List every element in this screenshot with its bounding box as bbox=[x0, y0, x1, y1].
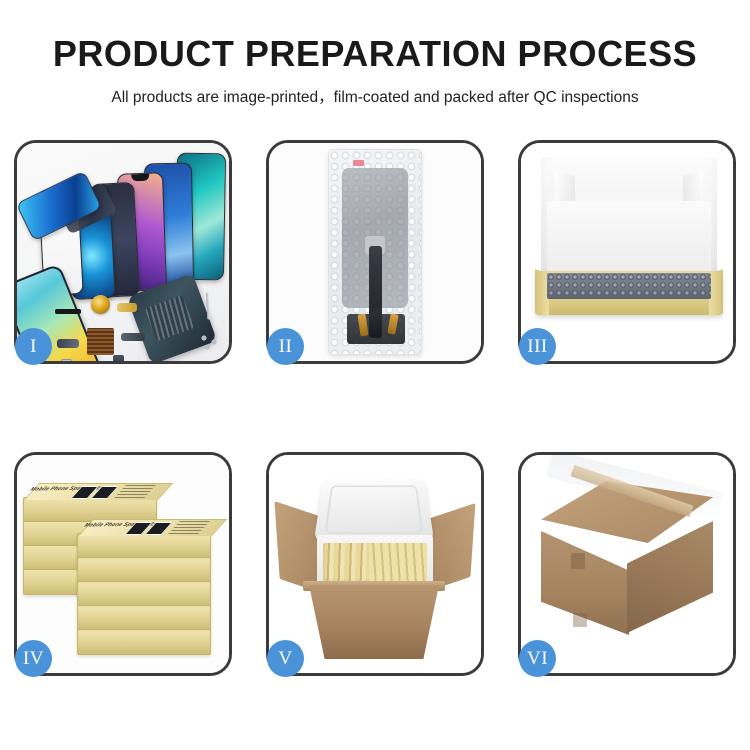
chip-grid-part bbox=[87, 328, 114, 355]
panel-3-image bbox=[521, 143, 733, 361]
kraft-box-front-4 bbox=[77, 605, 211, 631]
process-step-grid: I II bbox=[14, 140, 736, 680]
panel-5-image bbox=[269, 455, 481, 673]
carton-tab-upper bbox=[571, 553, 585, 569]
process-step-panel-4[interactable]: Mobile Phone Spare Parts Mobile Phone Sp… bbox=[14, 452, 232, 676]
kraft-box-front-3 bbox=[77, 581, 211, 607]
step-badge-2: II bbox=[267, 328, 304, 365]
step-badge-6: VI bbox=[519, 640, 556, 677]
kraft-box-front-1: Mobile Phone Spare Parts bbox=[77, 533, 211, 559]
process-step-panel-1[interactable]: I bbox=[14, 140, 232, 364]
flex-cable-dark-part bbox=[121, 333, 145, 341]
panel-6-image bbox=[521, 455, 733, 673]
carton-tab-lower bbox=[573, 613, 587, 627]
vibration-coil-part bbox=[91, 295, 110, 314]
black-strip-part bbox=[55, 309, 81, 314]
phone-notch-icon bbox=[131, 174, 149, 182]
sim-tray-part bbox=[61, 359, 72, 361]
pink-qc-label bbox=[353, 160, 364, 166]
step-badge-1: I bbox=[15, 328, 52, 365]
page-title: PRODUCT PREPARATION PROCESS bbox=[0, 0, 750, 75]
panel-4-image: Mobile Phone Spare Parts Mobile Phone Sp… bbox=[17, 455, 229, 673]
process-step-panel-5[interactable]: V bbox=[266, 452, 484, 676]
screws-part bbox=[201, 335, 223, 351]
grey-bubble-wrapped-contents bbox=[547, 273, 711, 299]
panel-1-image bbox=[17, 143, 229, 361]
process-step-panel-6[interactable]: VI bbox=[518, 452, 736, 676]
tray-edge-right bbox=[709, 270, 723, 317]
yellow-boxes-inside-right bbox=[369, 543, 427, 585]
carton-body-open bbox=[309, 585, 439, 659]
kraft-box-front-5 bbox=[77, 629, 211, 655]
step-badge-5: V bbox=[267, 640, 304, 677]
battery-connector-part bbox=[113, 355, 124, 361]
panel-2-image bbox=[269, 143, 481, 361]
styrofoam-lid-open bbox=[314, 480, 435, 542]
yellow-kraft-tray bbox=[535, 271, 723, 315]
process-step-panel-2[interactable]: II bbox=[266, 140, 484, 364]
kraft-box-front-2 bbox=[77, 557, 211, 583]
page-subtitle: All products are image-printed，film-coat… bbox=[0, 75, 750, 107]
kraft-box-stack: Mobile Phone Spare Parts Mobile Phone Sp… bbox=[21, 471, 229, 667]
page-header: PRODUCT PREPARATION PROCESS All products… bbox=[0, 0, 750, 107]
white-foam-sheet bbox=[547, 201, 711, 273]
flex-cable-gold-part bbox=[117, 303, 137, 312]
step-badge-4: IV bbox=[15, 640, 52, 677]
step-badge-3: III bbox=[519, 328, 556, 365]
bubble-wrap-bag bbox=[328, 149, 422, 355]
process-step-panel-3[interactable]: III bbox=[518, 140, 736, 364]
flex-cable-grey-part bbox=[57, 339, 79, 348]
